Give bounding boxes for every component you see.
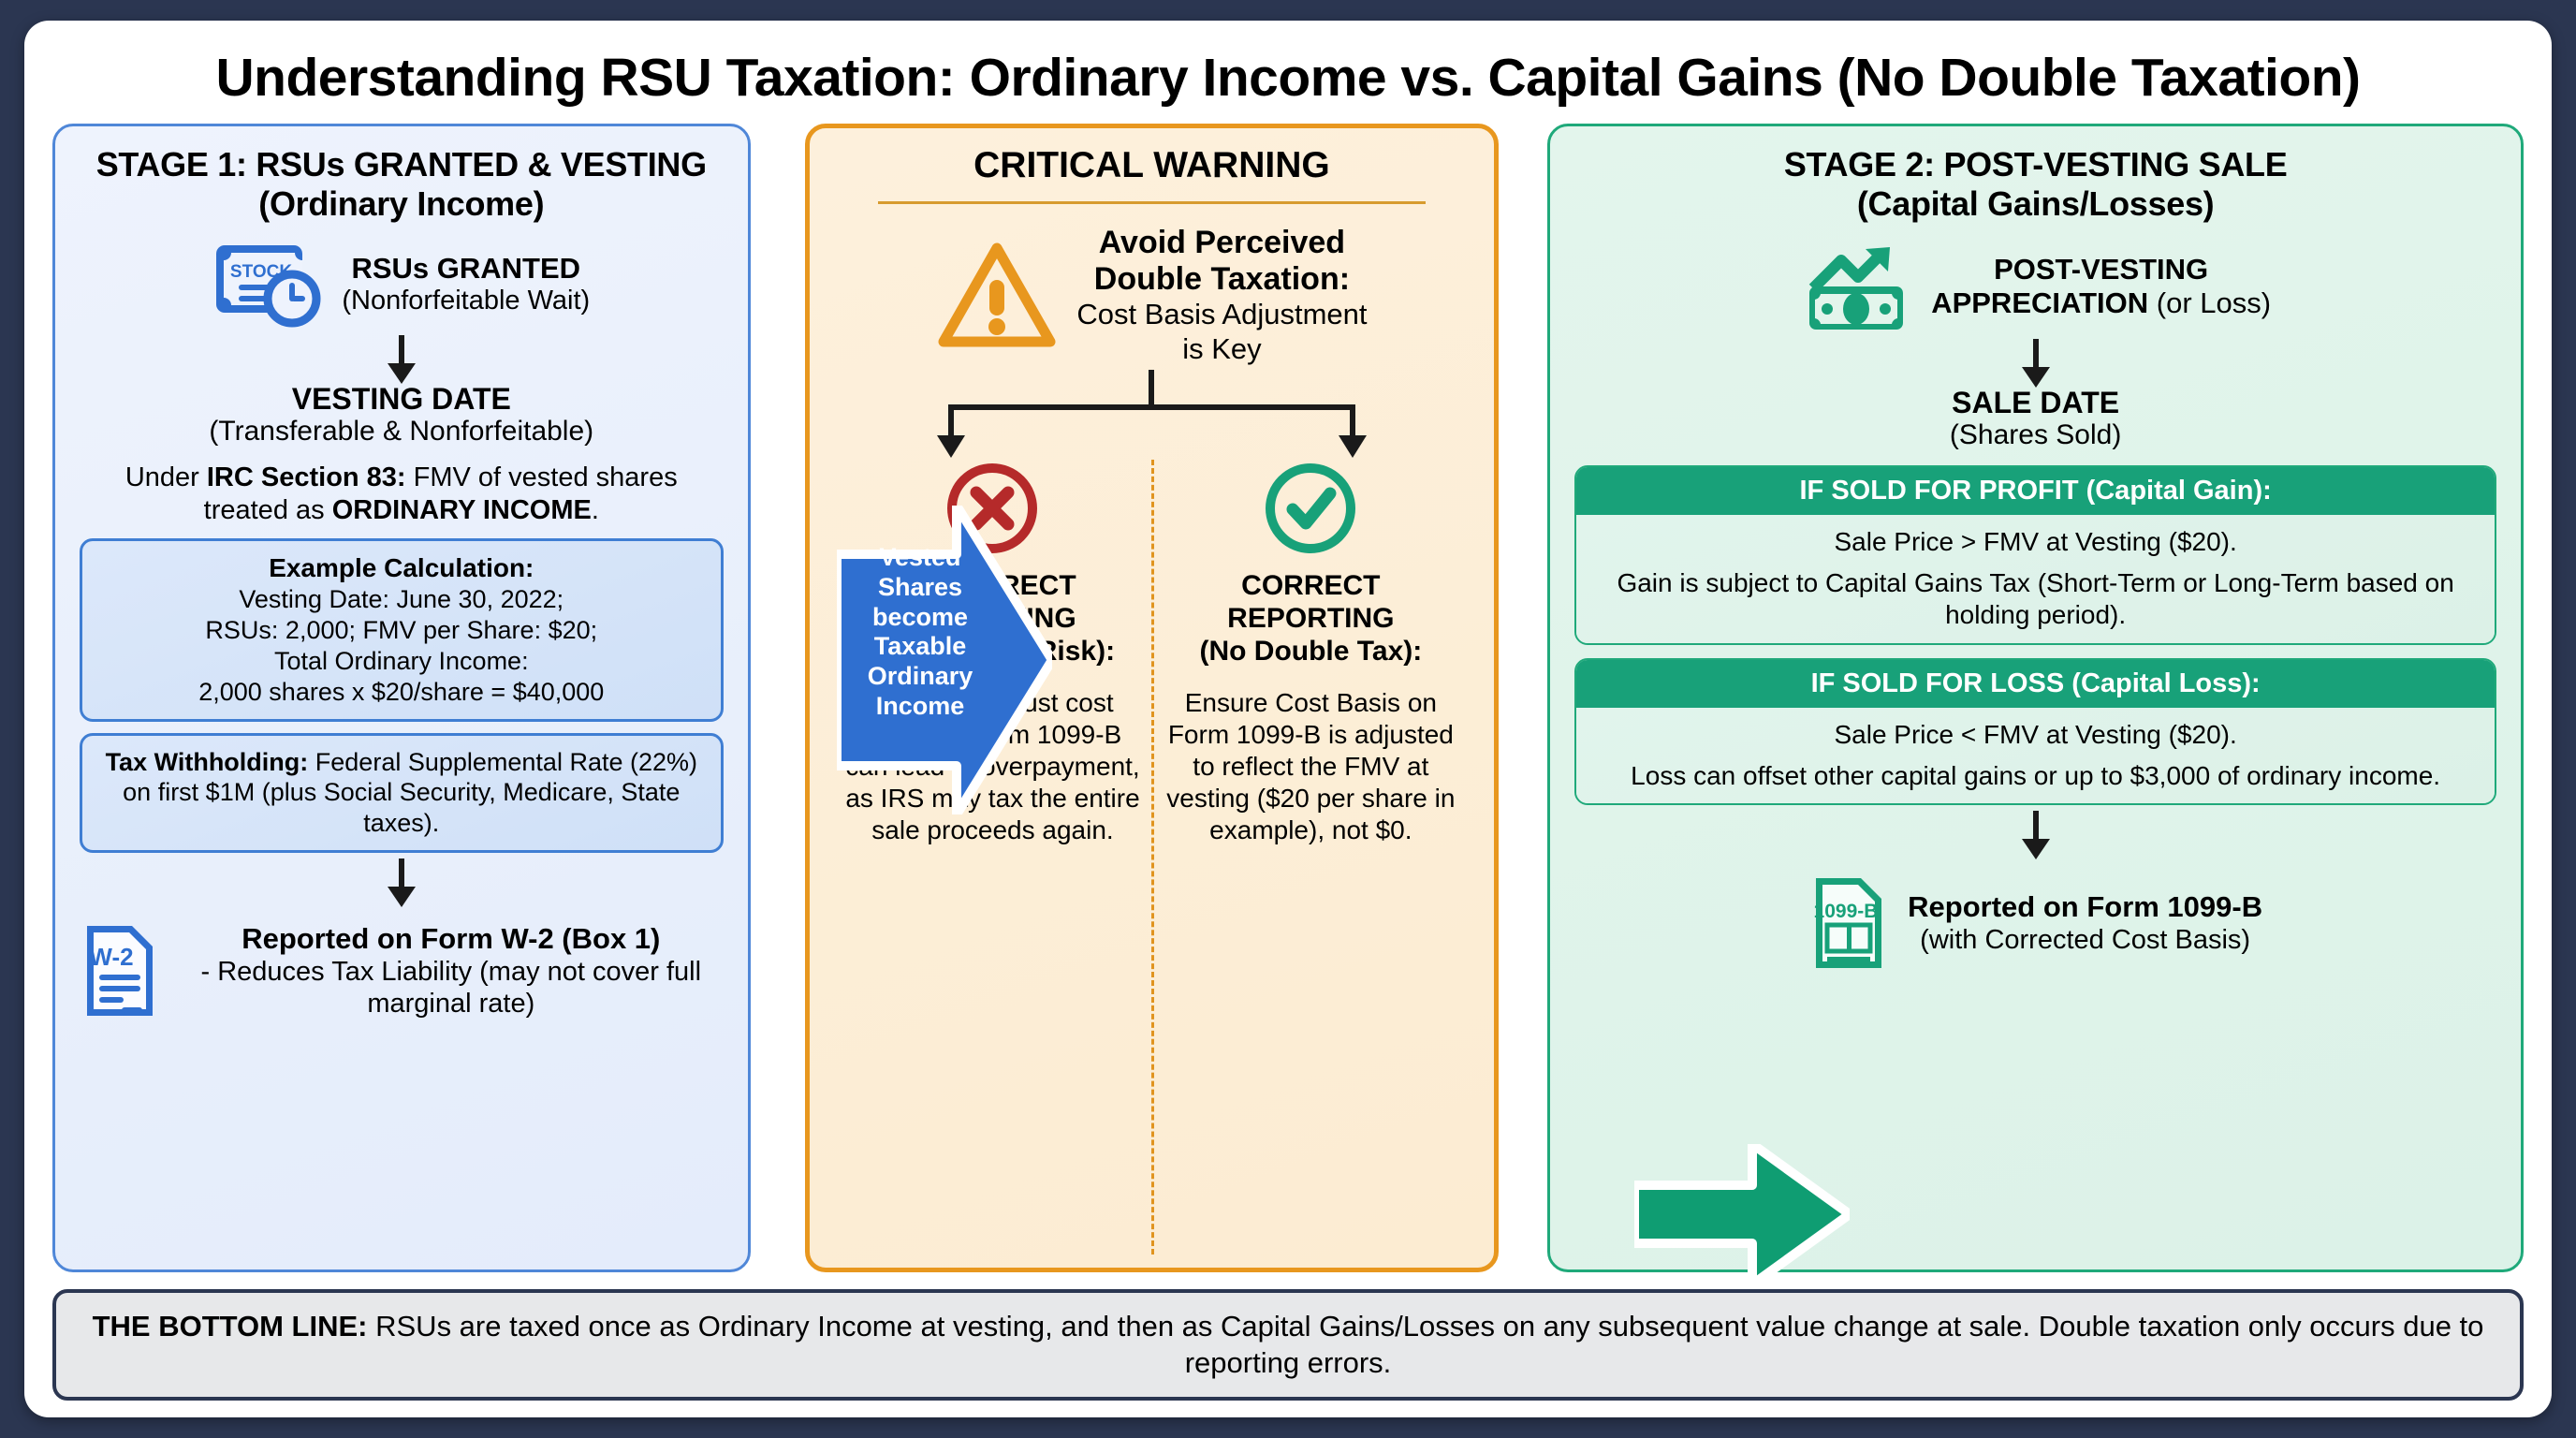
avoid-double-taxation-text: Avoid Perceived Double Taxation: Cost Ba… [1076, 225, 1367, 366]
appreciation-word: APPRECIATION [1931, 286, 2148, 319]
correct-reporting-column: CORRECT REPORTING (No Double Tax): Ensur… [1151, 460, 1470, 1254]
money-growth-icon [1800, 240, 1912, 333]
avoid-double-taxation-row: Avoid Perceived Double Taxation: Cost Ba… [936, 225, 1367, 366]
tax-withholding-box: Tax Withholding: Federal Supplemental Ra… [80, 733, 724, 854]
w2-document-icon: W-2 [80, 920, 160, 1021]
post-vesting-appreciation-text: POST-VESTING APPRECIATION (or Loss) [1931, 253, 2271, 319]
appreciation-sub: (or Loss) [2157, 286, 2271, 319]
w2-text: Reported on Form W-2 (Box 1) - Reduces T… [179, 922, 724, 1020]
irc-suffix: . [592, 495, 599, 525]
vesting-date-sub: (Transferable & Nonforfeitable) [209, 416, 593, 448]
critical-warning-heading: CRITICAL WARNING [973, 145, 1330, 192]
comparison-divider [1151, 460, 1154, 1254]
appreciation-title-2: APPRECIATION (or Loss) [1931, 286, 2271, 320]
loss-line-2: Loss can offset other capital gains or u… [1589, 760, 2481, 792]
infographic-root: Understanding RSU Taxation: Ordinary Inc… [0, 0, 2576, 1438]
stage1-heading: STAGE 1: RSUs GRANTED & VESTING (Ordinar… [96, 145, 707, 225]
form-1099b-title: Reported on Form 1099-B [1908, 890, 2262, 924]
page-title: Understanding RSU Taxation: Ordinary Inc… [52, 41, 2524, 124]
warning-triangle-icon [936, 241, 1058, 351]
loss-box-body: Sale Price < FMV at Vesting ($20). Loss … [1576, 708, 2495, 803]
sale-date-sub: (Shares Sold) [1950, 419, 2121, 452]
example-calculation-box: Example Calculation: Vesting Date: June … [80, 538, 724, 722]
post-vesting-appreciation-row: POST-VESTING APPRECIATION (or Loss) [1800, 240, 2271, 333]
svg-text:W-2: W-2 [89, 943, 133, 971]
example-line-4: 2,000 shares x $20/share = $40,000 [97, 677, 706, 708]
profit-line-1: Sale Price > FMV at Vesting ($20). [1589, 526, 2481, 558]
appreciation-title: POST-VESTING [1931, 253, 2271, 286]
example-line-2: RSUs: 2,000; FMV per Share: $20; [97, 615, 706, 646]
w2-row: W-2 Reported on Form W-2 (Box 1) - Reduc… [80, 920, 724, 1021]
warning-divider [878, 201, 1426, 204]
form-1099b-row: 1099-B Reported on Form 1099-B (with Cor… [1808, 873, 2262, 974]
irc-bold: IRC Section 83: [207, 462, 406, 492]
bottom-line-text: RSUs are taxed once as Ordinary Income a… [368, 1310, 2484, 1380]
sale-date-title: SALE DATE [1950, 386, 2121, 419]
warning-branch-connector [834, 370, 1471, 460]
loss-box-header: IF SOLD FOR LOSS (Capital Loss): [1576, 660, 2495, 708]
panels-row: STAGE 1: RSUs GRANTED & VESTING (Ordinar… [52, 124, 2524, 1272]
rsus-granted-text: RSUs GRANTED (Nonforfeitable Wait) [342, 252, 590, 317]
profit-box-body: Sale Price > FMV at Vesting ($20). Gain … [1576, 515, 2495, 642]
form-1099b-sub: (with Corrected Cost Basis) [1908, 924, 2262, 956]
rsus-granted-row: STOCK RSUs GRANTED (Nonforfeitable Wait) [212, 240, 590, 330]
rsus-granted-title: RSUs GRANTED [342, 252, 590, 286]
bottom-line-label: THE BOTTOM LINE: [93, 1310, 368, 1343]
stock-certificate-icon: STOCK [212, 240, 323, 330]
irc-prefix: Under [125, 462, 207, 492]
svg-text:1099-B: 1099-B [1814, 901, 1879, 922]
rsus-granted-sub: (Nonforfeitable Wait) [342, 285, 590, 316]
avoid-sub: Cost Basis Adjustment is Key [1076, 298, 1367, 366]
stage1-panel: STAGE 1: RSUs GRANTED & VESTING (Ordinar… [52, 124, 751, 1272]
loss-box: IF SOLD FOR LOSS (Capital Loss): Sale Pr… [1574, 658, 2496, 805]
vesting-date-title: VESTING DATE [209, 382, 593, 416]
irc-section-83-text: Under IRC Section 83: FMV of vested shar… [80, 462, 724, 527]
correct-reporting-body: Ensure Cost Basis on Form 1099-B is adju… [1163, 687, 1458, 847]
w2-sub: - Reduces Tax Liability (may not cover f… [179, 956, 724, 1020]
circle-check-icon [1262, 460, 1359, 557]
irc-bold2: ORDINARY INCOME [332, 495, 592, 525]
withholding-label: Tax Withholding: [106, 748, 309, 776]
profit-line-2: Gain is subject to Capital Gains Tax (Sh… [1589, 567, 2481, 631]
form-1099b-icon: 1099-B [1808, 873, 1889, 974]
stage2-panel: STAGE 2: POST-VESTING SALE (Capital Gain… [1547, 124, 2524, 1272]
profit-box: IF SOLD FOR PROFIT (Capital Gain): Sale … [1574, 465, 2496, 644]
sale-date-block: SALE DATE (Shares Sold) [1950, 386, 2121, 452]
w2-title: Reported on Form W-2 (Box 1) [179, 922, 724, 956]
example-line-3: Total Ordinary Income: [97, 646, 706, 677]
bottom-line-banner: THE BOTTOM LINE: RSUs are taxed once as … [52, 1289, 2524, 1401]
example-title: Example Calculation: [97, 552, 706, 584]
stage2-heading: STAGE 2: POST-VESTING SALE (Capital Gain… [1784, 145, 2288, 225]
blue-arrow-label: Vested Shares become Taxable Ordinary In… [850, 543, 990, 722]
profit-box-header: IF SOLD FOR PROFIT (Capital Gain): [1576, 467, 2495, 515]
infographic-card: Understanding RSU Taxation: Ordinary Inc… [24, 21, 2552, 1417]
loss-line-1: Sale Price < FMV at Vesting ($20). [1589, 719, 2481, 751]
right-arrow-blue: Vested Shares become Taxable Ordinary In… [837, 506, 1052, 814]
correct-reporting-title: CORRECT REPORTING (No Double Tax): [1199, 570, 1422, 668]
avoid-title: Avoid Perceived Double Taxation: [1076, 225, 1367, 298]
vesting-date-block: VESTING DATE (Transferable & Nonforfeita… [209, 382, 593, 448]
right-arrow-green [1634, 1144, 1850, 1284]
example-line-1: Vesting Date: June 30, 2022; [97, 584, 706, 615]
form-1099b-text: Reported on Form 1099-B (with Corrected … [1908, 890, 2262, 956]
